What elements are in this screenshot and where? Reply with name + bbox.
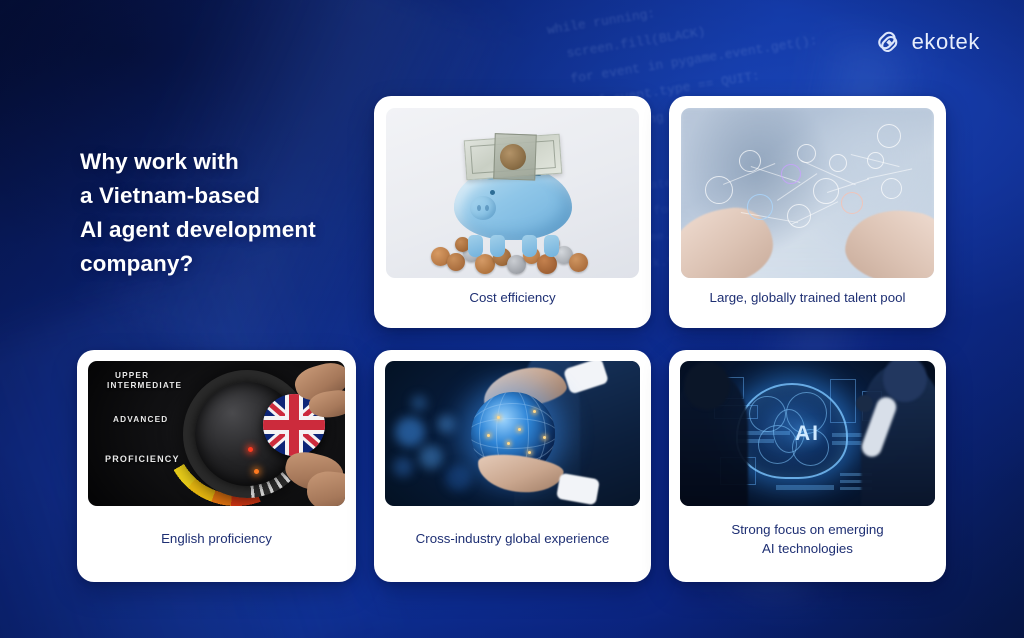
silhouette-hand <box>856 395 873 412</box>
card-caption: Cost efficiency <box>386 278 639 316</box>
dial-label-upper: UPPER <box>115 371 182 380</box>
headline-line-4: company? <box>80 247 380 281</box>
dial-label-advanced: ADVANCED <box>113 415 182 424</box>
card-ai-technologies[interactable]: AI Strong focus on emerging AI technolog… <box>669 350 946 582</box>
silhouette-head <box>684 362 730 410</box>
card-caption: Large, globally trained talent pool <box>681 278 934 316</box>
ai-brain-outline <box>736 383 848 479</box>
card-caption: Strong focus on emerging AI technologies <box>680 506 935 571</box>
headline-line-3: AI agent development <box>80 213 380 247</box>
card-caption-line-1: Strong focus on emerging <box>731 522 883 537</box>
hologram-ai-text: AI <box>795 422 820 446</box>
card-caption-line-2: AI technologies <box>762 541 853 556</box>
headline-line-2: a Vietnam-based <box>80 179 380 213</box>
dial-label-proficiency: PROFICIENCY <box>105 454 182 464</box>
talent-network-image <box>681 108 934 278</box>
card-talent-pool[interactable]: Large, globally trained talent pool <box>669 96 946 328</box>
ekotek-interlock-icon <box>875 28 903 56</box>
dial-level-labels: UPPER INTERMEDIATE ADVANCED PROFICIENCY <box>97 371 182 464</box>
card-english-proficiency[interactable]: UPPER INTERMEDIATE ADVANCED PROFICIENCY … <box>77 350 356 582</box>
ai-brain-hologram-image: AI <box>680 361 935 506</box>
card-caption: English proficiency <box>88 506 345 571</box>
card-cross-industry-experience[interactable]: Cross-industry global experience <box>374 350 651 582</box>
brand-name: ekotek <box>912 29 980 55</box>
english-level-dial-image: UPPER INTERMEDIATE ADVANCED PROFICIENCY <box>88 361 345 506</box>
card-cost-efficiency[interactable]: Cost efficiency <box>374 96 651 328</box>
dial-label-intermediate: INTERMEDIATE <box>107 381 182 390</box>
dial-led <box>248 447 253 452</box>
dial-led <box>254 469 259 474</box>
dollar-bill <box>463 134 562 181</box>
brand-logo[interactable]: ekotek <box>875 28 980 56</box>
headline-line-1: Why work with <box>80 145 380 179</box>
piggy-bank-image <box>386 108 639 278</box>
page-title: Why work with a Vietnam-based AI agent d… <box>80 145 380 281</box>
card-caption: Cross-industry global experience <box>385 506 640 571</box>
digital-globe-image <box>385 361 640 506</box>
slide-root: while running: screen.fill(BLACK) for ev… <box>0 0 1024 638</box>
